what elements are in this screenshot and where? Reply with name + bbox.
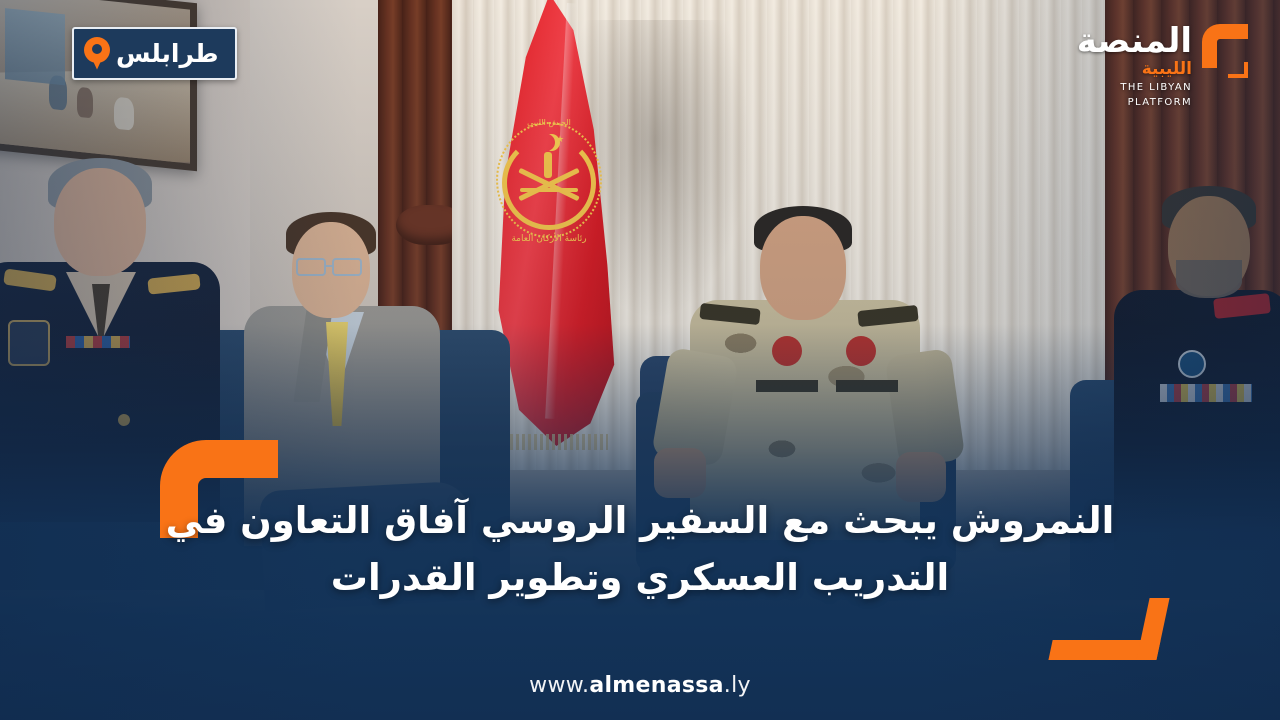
logo-arabic-name: المنصة bbox=[1077, 24, 1192, 58]
logo-english-line2: PLATFORM bbox=[1077, 97, 1192, 110]
location-badge[interactable]: طرابلس bbox=[72, 27, 237, 80]
url-brand: almenassa bbox=[589, 673, 723, 698]
brand-logo[interactable]: المنصة الليبية THE LIBYAN PLATFORM bbox=[1077, 18, 1262, 110]
news-card: ★ الجيش الليبي رئاسة الأركان العامة bbox=[0, 0, 1280, 720]
headline: النمروش يبحث مع السفير الروسي آفاق التعا… bbox=[60, 492, 1220, 607]
url-prefix: www. bbox=[529, 673, 589, 698]
headline-line-1: النمروش يبحث مع السفير الروسي آفاق التعا… bbox=[60, 492, 1220, 549]
logo-text-block: المنصة الليبية THE LIBYAN PLATFORM bbox=[1077, 18, 1192, 110]
logo-bracket-icon bbox=[1202, 18, 1262, 88]
website-url[interactable]: www.almenassa.ly bbox=[0, 673, 1280, 698]
logo-arabic-subtitle: الليبية bbox=[1077, 60, 1192, 79]
logo-english-line1: THE LIBYAN bbox=[1077, 82, 1192, 95]
location-label: طرابلس bbox=[116, 41, 219, 66]
decoration-bracket-right bbox=[1055, 598, 1163, 660]
url-suffix: .ly bbox=[724, 673, 751, 698]
headline-line-2: التدريب العسكري وتطوير القدرات bbox=[60, 549, 1220, 606]
map-pin-icon bbox=[84, 37, 110, 71]
